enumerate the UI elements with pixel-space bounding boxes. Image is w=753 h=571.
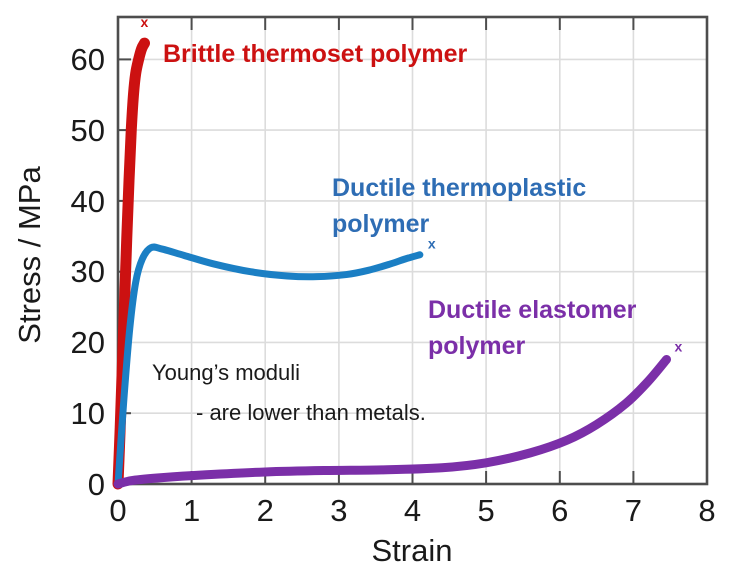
y-tick-label-20: 20	[71, 325, 105, 360]
x-axis-tick-labels: 0 1 2 3 4 5 6 7 8	[109, 493, 715, 528]
x-axis-title: Strain	[372, 533, 453, 568]
series-label-ductile-elastomer-line1: Ductile elastomer	[428, 296, 637, 324]
y-axis-tick-labels: 0 10 20 30 40 50 60	[71, 42, 105, 502]
stress-strain-chart: x x x Brittle thermoset polymer Ductile …	[0, 0, 753, 571]
y-tick-label-0: 0	[88, 467, 105, 502]
x-tick-label-7: 7	[625, 493, 642, 528]
y-tick-label-30: 30	[71, 254, 105, 289]
x-tick-label-1: 1	[183, 493, 200, 528]
series-label-ductile-thermoplastic-line1: Ductile thermoplastic	[332, 174, 586, 202]
x-tick-label-8: 8	[698, 493, 715, 528]
annotation-youngs-moduli-line2: - are lower than metals.	[196, 400, 426, 425]
x-tick-label-0: 0	[109, 493, 126, 528]
x-tick-label-5: 5	[477, 493, 494, 528]
chart-canvas: x x x Brittle thermoset polymer Ductile …	[0, 0, 753, 571]
series-label-brittle-thermoset: Brittle thermoset polymer	[163, 40, 468, 68]
y-axis-title: Stress / MPa	[12, 166, 47, 344]
marker-thermoplastic-endpoint: x	[428, 236, 436, 252]
y-tick-label-50: 50	[71, 113, 105, 148]
x-tick-label-2: 2	[257, 493, 274, 528]
marker-elastomer-endpoint: x	[675, 339, 683, 355]
annotation-youngs-moduli-line1: Young’s moduli	[152, 360, 300, 385]
y-tick-label-60: 60	[71, 42, 105, 77]
y-tick-label-10: 10	[71, 396, 105, 431]
x-tick-label-4: 4	[404, 493, 421, 528]
x-tick-label-6: 6	[551, 493, 568, 528]
y-tick-label-40: 40	[71, 184, 105, 219]
series-label-ductile-elastomer-line2: polymer	[428, 332, 526, 360]
marker-brittle-endpoint: x	[141, 14, 149, 30]
x-tick-label-3: 3	[330, 493, 347, 528]
series-label-ductile-thermoplastic-line2: polymer	[332, 210, 430, 238]
